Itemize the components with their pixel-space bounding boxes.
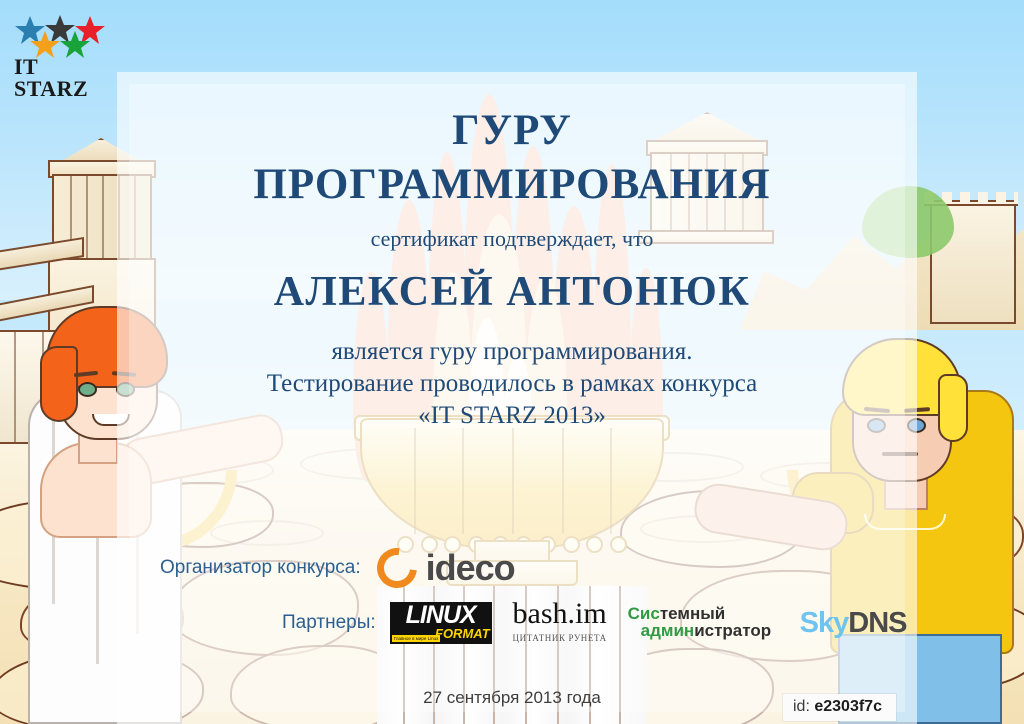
- ideco-swoosh-icon: [369, 540, 425, 596]
- certificate-body: является гуру программирования. Тестиров…: [0, 336, 1024, 432]
- certificate-subtitle: сертификат подтверждает, что: [0, 226, 1024, 252]
- certificate-body-line3: «IT STARZ 2013»: [0, 400, 1024, 432]
- certificate-body-line1: является гуру программирования.: [0, 336, 1024, 368]
- sysadmin-part3: админ: [641, 621, 695, 640]
- bash-im-tagline: ЦИТАТНИК РУНЕТА: [513, 633, 607, 643]
- partner-logo-linux-format[interactable]: LINUX FORMAT Главное в мире Linux: [390, 602, 492, 644]
- partners-row: Партнеры: LINUX FORMAT Главное в мире Li…: [282, 600, 922, 646]
- partners-label: Партнеры:: [282, 612, 376, 634]
- certificate-title-line1: ГУРУ: [0, 106, 1024, 155]
- ideco-wordmark: ideco: [426, 550, 515, 586]
- linux-format-main: LINUX: [390, 602, 492, 628]
- recipient-name: АЛЕКСЕЙ АНТОНЮК: [0, 268, 1024, 316]
- linux-format-tagline: Главное в мире Linux: [392, 635, 441, 642]
- partner-logo-bash-im[interactable]: bash.im ЦИТАТНИК РУНЕТА: [506, 600, 614, 646]
- ideco-logo[interactable]: ideco: [377, 548, 515, 588]
- id-badge-key: id:: [793, 698, 810, 715]
- bash-im-wordmark: bash.im: [513, 597, 607, 630]
- partner-logo-sistemny-administrator[interactable]: Системный администратор: [628, 606, 786, 640]
- organizer-row: Организатор конкурса: ideco: [160, 548, 580, 588]
- certificate-body-line2: Тестирование проводилось в рамках конкур…: [0, 368, 1024, 400]
- linux-format-secondary: FORMAT: [435, 627, 490, 640]
- sysadmin-part4: истратор: [694, 621, 771, 640]
- partner-logo-skydns[interactable]: SkyDNS: [800, 607, 907, 640]
- skydns-part2: DNS: [848, 607, 906, 639]
- organizer-label: Организатор конкурса:: [160, 557, 361, 579]
- certificate-title-line2: ПРОГРАММИРОВАНИЯ: [0, 160, 1024, 209]
- certificate-text: ГУРУ ПРОГРАММИРОВАНИЯ сертификат подтвер…: [0, 0, 1024, 724]
- skydns-part1: Sky: [800, 607, 849, 639]
- sysadmin-line2: администратор: [628, 621, 772, 640]
- certificate-canvas: IT STARZ ГУРУ ПРОГРАММИРОВАНИЯ сертифика…: [0, 0, 1024, 724]
- id-badge-value: e2303f7c: [814, 698, 882, 715]
- id-badge: id: e2303f7c: [783, 694, 896, 721]
